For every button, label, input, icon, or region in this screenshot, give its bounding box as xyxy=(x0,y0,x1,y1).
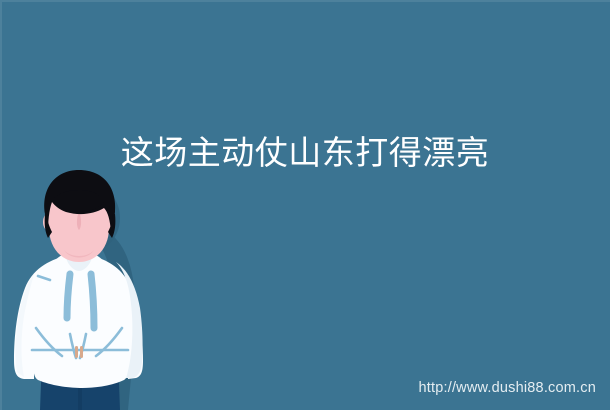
watermark-url: http://www.dushi88.com.cn xyxy=(419,379,596,397)
page-title: 这场主动仗山东打得漂亮 xyxy=(0,133,610,173)
image-card: 这场主动仗山东打得漂亮 http://www.dushi88.com.cn xyxy=(0,0,610,410)
illustration-young-person-in-white-hoodie xyxy=(8,170,158,410)
